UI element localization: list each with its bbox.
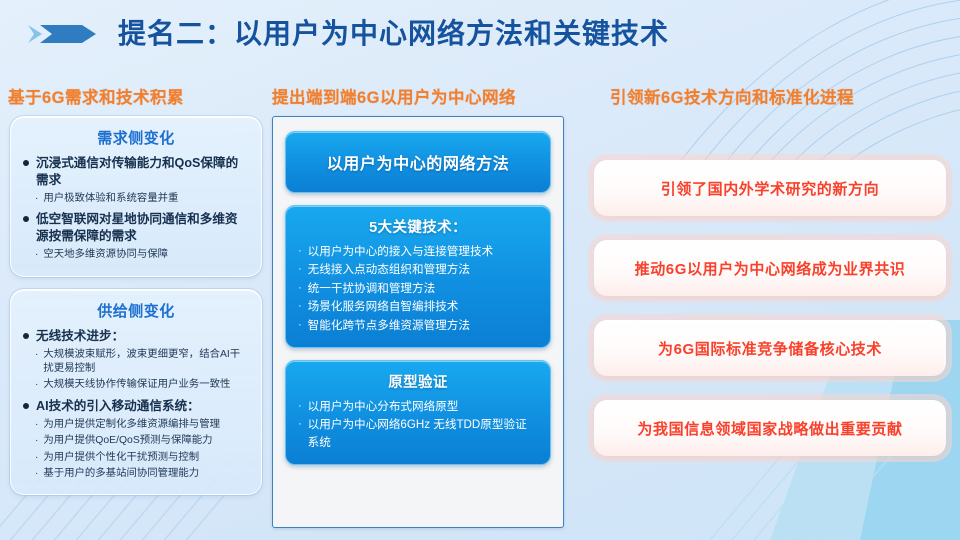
supply-item-2-text: AI技术的引入移动通信系统：: [36, 398, 200, 415]
key-tech-item-1-text: 以用户为中心的接入与连接管理技术: [308, 243, 494, 260]
achievement-card-1: 引领了国内外学术研究的新方向: [594, 160, 946, 216]
key-tech-item-1: · 以用户为中心的接入与连接管理技术: [298, 243, 538, 260]
supply-item-2-sub-1-text: 为用户提供定制化多维资源编排与管理: [43, 418, 220, 432]
bullet-tick-icon: ·: [35, 467, 38, 481]
right-column: 引领了国内外学术研究的新方向 推动6G以用户为中心网络成为业界共识 为6G国际标…: [594, 160, 946, 456]
demand-side-card: 需求侧变化 沉浸式通信对传输能力和QoS保障的需求 · 用户极致体验和系统容量并…: [10, 116, 262, 277]
key-tech-item-3-text: 统一干扰协调和管理方法: [308, 280, 436, 297]
spacer: [285, 193, 551, 205]
demand-item-1-sub-1-text: 用户极致体验和系统容量并重: [43, 192, 178, 206]
key-tech-item-2-text: 无线接入点动态组织和管理方法: [308, 261, 470, 278]
slide-root: 提名二：以用户为中心网络方法和关键技术 基于6G需求和技术积累 提出端到端6G以…: [0, 0, 960, 540]
key-technologies-heading: 5大关键技术：: [298, 216, 538, 237]
bullet-tick-icon: ·: [298, 261, 302, 278]
spacer: [285, 348, 551, 360]
bullet-tick-icon: ·: [298, 416, 302, 433]
key-tech-item-3: · 统一干扰协调和管理方法: [298, 280, 538, 297]
demand-item-2-text: 低空智联网对星地协同通信和多维资源按需保障的需求: [36, 211, 249, 245]
prototype-item-2-text: 以用户为中心网络6GHz 无线TDD原型验证系统: [308, 416, 538, 451]
supply-item-1-sub-1: · 大规模波束赋形，波束更细更窄，结合AI干扰更易控制: [35, 348, 249, 377]
bullet-tick-icon: ·: [35, 248, 38, 262]
bullet-dot-icon: [23, 333, 29, 339]
bullet-dot-icon: [23, 403, 29, 409]
bullet-tick-icon: ·: [298, 398, 302, 415]
supply-item-1-sub-2-text: 大规模天线协作传输保证用户业务一致性: [43, 378, 230, 392]
supply-side-heading: 供给侧变化: [23, 300, 249, 321]
key-tech-item-5-text: 智能化跨节点多维资源管理方法: [308, 317, 470, 334]
supply-item-1-sub-1-text: 大规模波束赋形，波束更细更窄，结合AI干扰更易控制: [43, 348, 249, 377]
supply-item-1-text: 无线技术进步：: [36, 328, 124, 345]
page-title: 提名二：以用户为中心网络方法和关键技术: [118, 20, 669, 48]
supply-item-2: AI技术的引入移动通信系统：: [23, 398, 249, 415]
prototype-item-1-text: 以用户为中心分布式网络原型: [308, 398, 459, 415]
demand-item-2: 低空智联网对星地协同通信和多维资源按需保障的需求: [23, 211, 249, 245]
achievement-card-3: 为6G国际标准竞争储备核心技术: [594, 320, 946, 376]
supply-item-2-sub-4-text: 基于用户的多基站间协同管理能力: [43, 467, 199, 481]
demand-item-1-text: 沉浸式通信对传输能力和QoS保障的需求: [36, 155, 249, 189]
bullet-tick-icon: ·: [35, 451, 38, 465]
bullet-tick-icon: ·: [298, 243, 302, 260]
double-chevron-arrow-icon: [26, 21, 106, 47]
bullet-tick-icon: ·: [35, 418, 38, 432]
bullet-tick-icon: ·: [298, 317, 302, 334]
bullet-tick-icon: ·: [35, 378, 38, 392]
prototype-validation-box: 原型验证 · 以用户为中心分布式网络原型 · 以用户为中心网络6GHz 无线TD…: [285, 360, 551, 465]
middle-column: 以用户为中心的网络方法 5大关键技术： · 以用户为中心的接入与连接管理技术 ·…: [272, 116, 564, 528]
demand-item-2-sub-1-text: 空天地多维资源协同与保障: [43, 248, 168, 262]
key-tech-item-2: · 无线接入点动态组织和管理方法: [298, 261, 538, 278]
achievement-card-4: 为我国信息领域国家战略做出重要贡献: [594, 400, 946, 456]
bullet-dot-icon: [23, 160, 29, 166]
supply-item-1-sub-2: · 大规模天线协作传输保证用户业务一致性: [35, 378, 249, 392]
key-tech-item-4-text: 场景化服务网络自智编排技术: [308, 298, 459, 315]
subheader-middle: 提出端到端6G以用户为中心网络: [272, 84, 516, 108]
prototype-item-2: · 以用户为中心网络6GHz 无线TDD原型验证系统: [298, 416, 538, 451]
key-tech-item-5: · 智能化跨节点多维资源管理方法: [298, 317, 538, 334]
demand-item-1: 沉浸式通信对传输能力和QoS保障的需求: [23, 155, 249, 189]
prototype-validation-heading: 原型验证: [298, 371, 538, 392]
subheader-right: 引领新6G技术方向和标准化进程: [610, 84, 854, 108]
bullet-tick-icon: ·: [35, 192, 38, 206]
bullet-dot-icon: [23, 216, 29, 222]
supply-side-card: 供给侧变化 无线技术进步： · 大规模波束赋形，波束更细更窄，结合AI干扰更易控…: [10, 289, 262, 496]
supply-item-2-sub-3-text: 为用户提供个性化干扰预测与控制: [43, 451, 199, 465]
slide-title-row: 提名二：以用户为中心网络方法和关键技术: [26, 20, 669, 48]
achievement-card-2: 推动6G以用户为中心网络成为业界共识: [594, 240, 946, 296]
key-technologies-box: 5大关键技术： · 以用户为中心的接入与连接管理技术 · 无线接入点动态组织和管…: [285, 205, 551, 348]
supply-item-2-sub-2-text: 为用户提供QoE/QoS预测与保障能力: [43, 434, 212, 448]
demand-side-heading: 需求侧变化: [23, 127, 249, 148]
supply-item-2-sub-3: · 为用户提供个性化干扰预测与控制: [35, 451, 249, 465]
bullet-tick-icon: ·: [35, 348, 38, 362]
bullet-tick-icon: ·: [35, 434, 38, 448]
left-column: 需求侧变化 沉浸式通信对传输能力和QoS保障的需求 · 用户极致体验和系统容量并…: [10, 116, 262, 495]
supply-item-2-sub-1: · 为用户提供定制化多维资源编排与管理: [35, 418, 249, 432]
bullet-tick-icon: ·: [298, 280, 302, 297]
method-box: 以用户为中心的网络方法: [285, 131, 551, 193]
supply-item-2-sub-2: · 为用户提供QoE/QoS预测与保障能力: [35, 434, 249, 448]
bullet-tick-icon: ·: [298, 298, 302, 315]
key-tech-item-4: · 场景化服务网络自智编排技术: [298, 298, 538, 315]
prototype-item-1: · 以用户为中心分布式网络原型: [298, 398, 538, 415]
method-box-title: 以用户为中心的网络方法: [327, 150, 510, 174]
demand-item-2-sub-1: · 空天地多维资源协同与保障: [35, 248, 249, 262]
subheader-left: 基于6G需求和技术积累: [8, 84, 184, 108]
supply-item-1: 无线技术进步：: [23, 328, 249, 345]
demand-item-1-sub-1: · 用户极致体验和系统容量并重: [35, 192, 249, 206]
supply-item-2-sub-4: · 基于用户的多基站间协同管理能力: [35, 467, 249, 481]
